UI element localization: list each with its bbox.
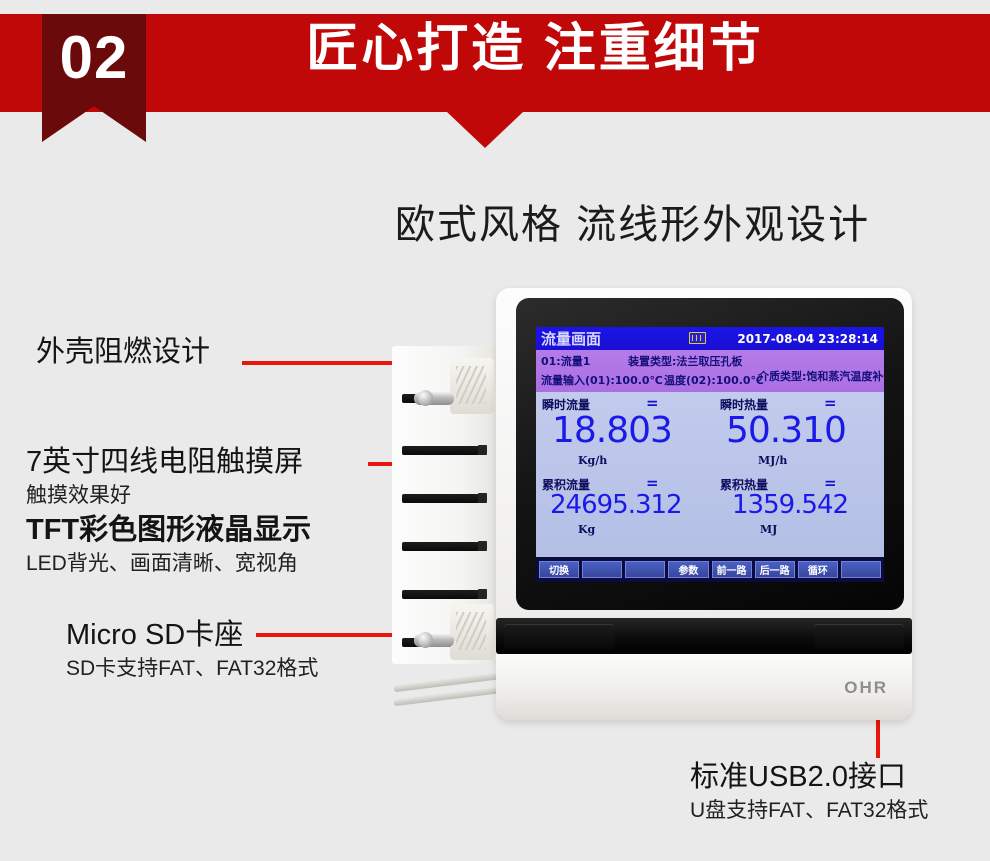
sd-card-slot[interactable] [504, 624, 614, 650]
vent-slot [402, 542, 484, 551]
banner-notch-arrow [447, 112, 523, 148]
lcd-button-blank-1[interactable] [582, 561, 622, 578]
info-flow-input: 流量输入(01):100.0℃ [541, 372, 663, 388]
section-number-ribbon: 02 [42, 14, 146, 142]
banner-title: 匠心打造 注重细节 [215, 18, 855, 80]
connector-strip [496, 618, 912, 654]
lcd-screen[interactable]: 流量画面 2017-08-04 23:28:14 01:流量1 装置类型:法兰取… [536, 327, 884, 582]
lcd-readings-area: 瞬时流量 = 18.803 Kg/h 瞬时热量 = 50.310 MJ/h 累积… [536, 392, 884, 557]
lcd-button-switch[interactable]: 切换 [539, 561, 579, 578]
callout-flame-title: 外壳阻燃设计 [36, 333, 210, 371]
lcd-button-blank-3[interactable] [841, 561, 881, 578]
lcd-datetime: 2017-08-04 23:28:14 [737, 331, 878, 347]
lcd-button-bar: 切换 参数 前一路 后一路 循环 [536, 557, 884, 582]
device-side-housing [392, 346, 504, 664]
section-number: 02 [42, 28, 146, 88]
reading-value: 50.310 [726, 410, 846, 451]
info-temperature: 温度(02):100.0℃ [664, 372, 764, 388]
sub-headline: 欧式风格 流线形外观设计 [395, 192, 925, 250]
device-lower-panel: OHR [496, 654, 912, 720]
lcd-button-cycle[interactable]: 循环 [798, 561, 838, 578]
callout-touch-title: 7英寸四线电阻触摸屏 [26, 443, 311, 481]
device-photo: 流量画面 2017-08-04 23:28:14 01:流量1 装置类型:法兰取… [392, 288, 912, 720]
callout-sd-card: Micro SD卡座 SD卡支持FAT、FAT32格式 [66, 616, 318, 684]
vent-slot-small [478, 445, 487, 455]
lcd-screen-title: 流量画面 [541, 330, 601, 348]
callout-usb-port: 标准USB2.0接口 U盘支持FAT、FAT32格式 [690, 758, 928, 826]
mounting-bracket [450, 604, 494, 660]
reading-unit: MJ/h [758, 454, 787, 467]
info-channel: 01:流量1 [541, 353, 590, 369]
lcd-button-blank-2[interactable] [625, 561, 665, 578]
reading-value: 18.803 [552, 410, 672, 451]
mounting-screw-head [418, 390, 433, 406]
callout-sd-sub: SD卡支持FAT、FAT32格式 [66, 654, 318, 684]
info-medium-type: 介质类型:饱和蒸汽温度补偿 [758, 368, 884, 384]
mounting-screw-head [418, 632, 433, 648]
lcd-button-prev[interactable]: 前一路 [712, 561, 752, 578]
vent-slot [402, 494, 484, 503]
callout-usb-title: 标准USB2.0接口 [690, 758, 928, 796]
lcd-button-next[interactable]: 后一路 [755, 561, 795, 578]
mounting-bracket [450, 358, 494, 414]
reading-unit: Kg/h [578, 454, 607, 467]
reading-value: 24695.312 [550, 490, 682, 520]
info-device-type: 装置类型:法兰取压孔板 [628, 353, 742, 369]
usb-port[interactable] [814, 624, 904, 650]
callout-tft-title: TFT彩色图形液晶显示 [26, 511, 311, 549]
reading-value: 1359.542 [732, 490, 848, 520]
lcd-button-params[interactable]: 参数 [668, 561, 708, 578]
vent-slot-small [478, 493, 487, 503]
reading-unit: Kg [578, 523, 595, 536]
vent-slot [402, 590, 484, 599]
callout-flame-retardant: 外壳阻燃设计 [36, 333, 210, 371]
lcd-title-bar: 流量画面 2017-08-04 23:28:14 [536, 327, 884, 350]
reading-unit: MJ [760, 523, 777, 536]
lcd-info-panel: 01:流量1 装置类型:法兰取压孔板 介质类型:饱和蒸汽温度补偿 流量输入(01… [536, 350, 884, 392]
callout-tft-sub: LED背光、画面清晰、宽视角 [26, 549, 311, 579]
callout-touch-sub1: 触摸效果好 [26, 481, 311, 511]
vent-slot-small [478, 589, 487, 599]
vent-slot [402, 446, 484, 455]
callout-touchscreen: 7英寸四线电阻触摸屏 触摸效果好 TFT彩色图形液晶显示 LED背光、画面清晰、… [26, 443, 311, 579]
brand-logo: OHR [844, 678, 888, 698]
vent-slot-small [478, 541, 487, 551]
callout-usb-sub: U盘支持FAT、FAT32格式 [690, 796, 928, 826]
record-icon [689, 332, 706, 344]
